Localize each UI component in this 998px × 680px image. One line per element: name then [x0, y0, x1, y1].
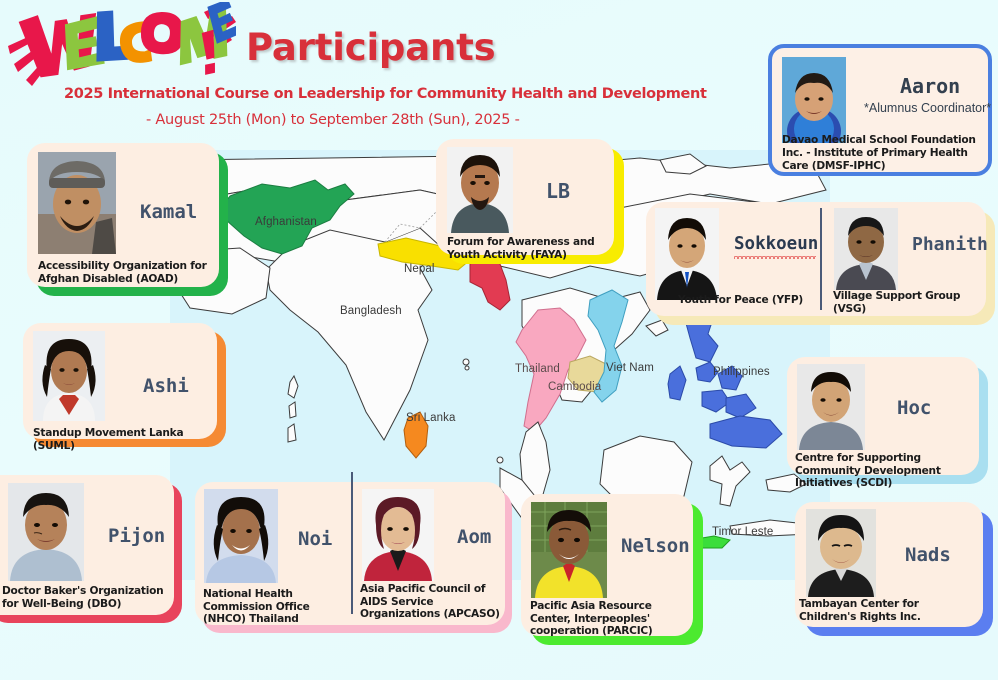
participant-org-pijon: Doctor Baker's Organization for Well-Bei… [2, 585, 168, 610]
participant-org-nads: Tambayan Center for Children's Rights In… [799, 598, 979, 623]
map-label-cambodia: Cambodia [548, 381, 601, 393]
participant-card-hoc[interactable]: Hoc Centre for Supporting Community Deve… [787, 357, 979, 475]
participant-org-lb: Forum for Awareness and Youth Activity (… [447, 236, 607, 261]
avatar-kamal [38, 152, 116, 254]
avatar-ashi [33, 331, 105, 421]
participant-card-aaron[interactable]: Aaron *Alumnus Coordinator* Davao Medica… [768, 44, 992, 176]
avatar-sokkoeun [655, 208, 719, 300]
participant-org-noi: National Health Commission Office (NHCO)… [203, 588, 349, 626]
card-divider [820, 208, 822, 310]
map-label-sri-lanka: Sri Lanka [406, 412, 455, 424]
welcome-logo [8, 2, 236, 88]
participant-name-pijon: Pijon [108, 525, 165, 547]
participant-name-lb: LB [546, 179, 570, 203]
course-daterange: - August 25th (Mon) to September 28th (S… [146, 112, 520, 128]
participant-name-ashi: Ashi [143, 375, 189, 397]
participant-name-aom: Aom [457, 526, 491, 548]
participant-card-lb[interactable]: LB Forum for Awareness and Youth Activit… [436, 139, 614, 255]
participant-card-cambodia[interactable]: Sokkoeun Youth for Peace (YFP) Phanith V… [646, 202, 986, 316]
avatar-aaron [782, 57, 846, 143]
participant-name-aaron: Aaron [900, 74, 960, 98]
participant-card-thailand[interactable]: Noi National Health Commission Office (N… [195, 482, 505, 625]
course-subtitle: 2025 International Course on Leadership … [64, 86, 707, 102]
participant-name-kamal: Kamal [140, 201, 197, 223]
participant-name-sokkoeun: Sokkoeun [734, 234, 818, 254]
map-label-bangladesh: Bangladesh [340, 305, 402, 317]
map-label-vietnam: Viet Nam [606, 362, 654, 374]
participant-org-hoc: Centre for Supporting Community Developm… [795, 452, 975, 490]
avatar-hoc [797, 364, 865, 450]
participant-card-kamal[interactable]: Kamal Accessibility Organization for Afg… [27, 143, 219, 287]
page-title: Participants [246, 26, 495, 69]
avatar-noi [204, 489, 278, 583]
map-label-timor-leste: Timor Leste [712, 526, 773, 538]
avatar-lb [447, 147, 513, 233]
map-label-nepal: Nepal [404, 263, 435, 275]
participants-poster: .ld { fill:#fcfcfc; stroke:#3b3b3b; stro… [0, 0, 998, 680]
participant-org-sokkoeun: Youth for Peace (YFP) [678, 294, 818, 307]
participant-card-pijon[interactable]: Pijon Doctor Baker's Organization for We… [0, 475, 174, 615]
participant-card-nads[interactable]: Nads Tambayan Center for Children's Righ… [795, 502, 983, 627]
participant-org-kamal: Accessibility Organization for Afghan Di… [38, 260, 214, 285]
card-divider-thailand [351, 472, 353, 614]
participant-org-aaron: Davao Medical School Foundation Inc. - I… [782, 134, 988, 172]
participant-org-ashi: Standup Movement Lanka (SUML) [33, 427, 213, 452]
avatar-aom [362, 489, 434, 581]
avatar-phanith [834, 208, 898, 290]
map-label-afghanistan: Afghanistan [255, 216, 317, 228]
participant-card-ashi[interactable]: Ashi Standup Movement Lanka (SUML) [23, 323, 217, 439]
participant-name-noi: Noi [298, 528, 332, 550]
participant-card-nelson[interactable]: Nelson Pacific Asia Resource Center, Int… [521, 494, 693, 636]
participant-name-hoc: Hoc [897, 397, 931, 419]
participant-role-aaron: *Alumnus Coordinator* [864, 101, 991, 115]
avatar-nelson [531, 502, 607, 598]
participant-org-phanith: Village Support Group (VSG) [833, 290, 973, 315]
participant-name-nads: Nads [905, 544, 951, 566]
map-label-thailand: Thailand [515, 363, 560, 375]
participant-org-aom: Asia Pacific Council of AIDS Service Org… [360, 583, 504, 621]
avatar-nads [806, 509, 876, 597]
participant-name-phanith: Phanith [912, 234, 988, 255]
map-label-philippines: Philippines [713, 366, 770, 378]
participant-name-nelson: Nelson [621, 535, 690, 557]
spellcheck-underline-sokkoeun [734, 255, 816, 259]
participant-org-nelson: Pacific Asia Resource Center, Interpeopl… [530, 600, 692, 638]
avatar-pijon [8, 483, 84, 581]
